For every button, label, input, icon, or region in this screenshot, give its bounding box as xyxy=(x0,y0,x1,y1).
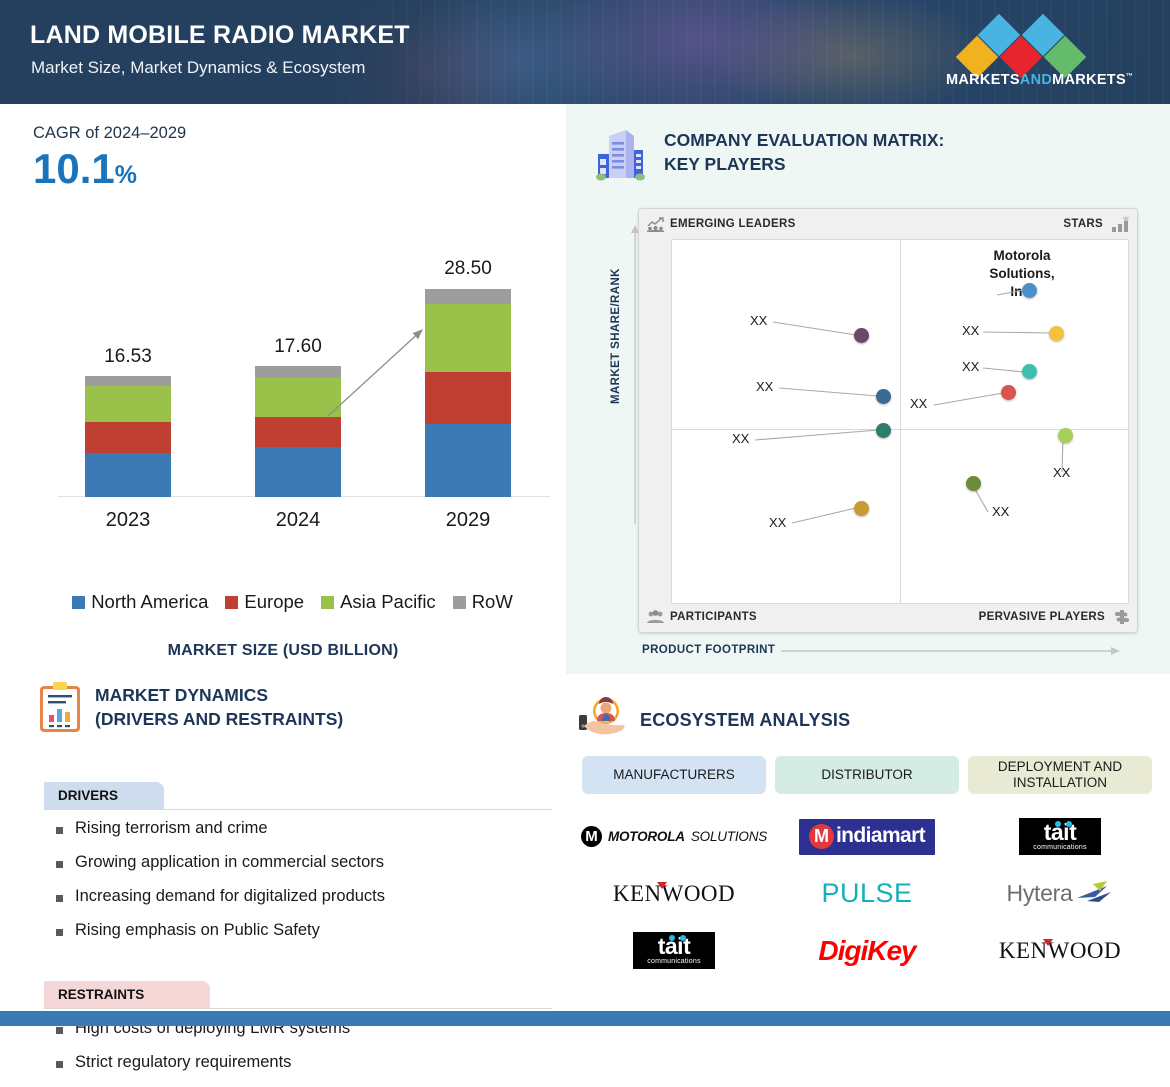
kenwood-wordmark: KENWOOD xyxy=(613,881,735,906)
legend-label-north-america: North America xyxy=(91,591,208,613)
logo-cell: KENWOOD xyxy=(968,924,1152,977)
logo-trademark: ™ xyxy=(1126,73,1133,80)
matrix-bottom-bar: PARTICIPANTS PERVASIVE PLAYERS xyxy=(639,602,1139,632)
legend-label-row: RoW xyxy=(472,591,513,613)
market-dynamics-header: MARKET DYNAMICS (DRIVERS AND RESTRAINTS) xyxy=(38,682,343,734)
matrix-dot-label: XX xyxy=(910,396,927,411)
ecosystem-title: ECOSYSTEM ANALYSIS xyxy=(640,710,850,731)
legend-label-europe: Europe xyxy=(244,591,304,613)
digikey-logo: DigiKey xyxy=(818,935,915,967)
logo-cell: M indiamart xyxy=(775,810,959,863)
matrix-dot-label: XX xyxy=(962,359,979,374)
list-item: Rising terrorism and crime xyxy=(56,819,385,838)
people-group-icon xyxy=(647,610,664,624)
restraints-tag: RESTRAINTS xyxy=(44,981,210,1008)
hytera-wordmark: Hytera xyxy=(1007,880,1073,907)
legend-swatch-asia-pacific xyxy=(321,596,334,609)
bar-seg-northamerica-2024 xyxy=(255,447,341,497)
drivers-tag: DRIVERS xyxy=(44,782,164,809)
ecosystem-column-deployment: DEPLOYMENT AND INSTALLATION tait communi… xyxy=(968,756,1152,981)
bar-seg-europe-2024 xyxy=(255,417,341,447)
ecosystem-header-deployment: DEPLOYMENT AND INSTALLATION xyxy=(968,756,1152,794)
matrix-dot-label: XX xyxy=(732,431,749,446)
kenwood-logo: KENWOOD xyxy=(999,938,1121,964)
puzzle-icon xyxy=(1113,609,1131,625)
driver-text: Rising terrorism and crime xyxy=(75,819,268,838)
tait-dot-icon xyxy=(669,935,675,941)
bullet-square-icon xyxy=(56,827,63,834)
driver-text: Growing application in commercial sector… xyxy=(75,853,384,872)
tait-subtext: communications xyxy=(1033,844,1086,851)
logo-wordmark: MARKETSANDMARKETS™ xyxy=(946,72,1126,88)
logo-cell: tait communications xyxy=(968,810,1152,863)
trend-up-people-icon xyxy=(647,217,664,232)
buildings-icon xyxy=(592,126,648,182)
market-dynamics-title-line1: MARKET DYNAMICS xyxy=(95,684,343,708)
indiamart-wordmark: indiamart xyxy=(836,824,925,848)
tait-dot-icon xyxy=(680,935,686,941)
bar-seg-asia-2024 xyxy=(255,378,341,417)
legend-swatch-europe xyxy=(225,596,238,609)
x-axis-arrow-icon xyxy=(781,644,1121,658)
tait-dot-icon xyxy=(1055,821,1061,827)
clipboard-chart-icon xyxy=(38,682,82,734)
chart-caption: MARKET SIZE (USD BILLION) xyxy=(0,642,566,660)
bar-total-2023: 16.53 xyxy=(58,346,198,368)
matrix-top-bar: EMERGING LEADERS STARS xyxy=(639,209,1139,239)
hytera-wing-icon xyxy=(1073,881,1113,907)
matrix-dot xyxy=(1001,385,1016,400)
ecosystem-header: ECOSYSTEM ANALYSIS xyxy=(578,696,850,744)
matrix-dot-label: XX xyxy=(769,515,786,530)
bullet-square-icon xyxy=(56,929,63,936)
company-evaluation-matrix-panel: COMPANY EVALUATION MATRIX: KEY PLAYERS M… xyxy=(566,104,1170,674)
tait-logo: tait communications xyxy=(633,932,714,970)
bar-group-2023: 16.53 2023 xyxy=(85,376,171,497)
motorola-m-icon: M xyxy=(581,826,602,847)
restraints-divider xyxy=(44,1008,552,1009)
list-item: Rising emphasis on Public Safety xyxy=(56,921,385,940)
logo-cell: KENWOOD xyxy=(582,867,766,920)
list-item: Growing application in commercial sector… xyxy=(56,853,385,872)
bar-seg-asia-2023 xyxy=(85,386,171,422)
ecosystem-cells-deployment: tait communications Hytera xyxy=(968,810,1152,977)
bullet-square-icon xyxy=(56,861,63,868)
motorola-suffix: SOLUTIONS xyxy=(691,829,767,844)
bar-seg-row-2024 xyxy=(255,366,341,378)
bar-seg-row-2023 xyxy=(85,376,171,386)
restraint-text: Strict regulatory requirements xyxy=(75,1053,291,1072)
bar-group-2029: 28.50 2029 xyxy=(425,289,511,497)
matrix-dot-motorola xyxy=(1022,283,1037,298)
tait-subtext: communications xyxy=(647,958,700,965)
marketsandmarkets-logo: MARKETSANDMARKETS™ xyxy=(946,16,1126,90)
logo-cell: M MOTOROLA SOLUTIONS xyxy=(582,810,766,863)
motorola-solutions-logo: M MOTOROLA SOLUTIONS xyxy=(581,826,767,847)
left-panel: CAGR of 2024–2029 10.1% 16.53 2023 17.60 xyxy=(0,104,566,994)
ecosystem-analysis-panel: ECOSYSTEM ANALYSIS MANUFACTURERS M MOTOR… xyxy=(566,674,1170,994)
matrix-dot-label: XX xyxy=(750,313,767,328)
chart-legend: North America Europe Asia Pacific RoW xyxy=(30,591,555,613)
matrix-frame: EMERGING LEADERS STARS MotorolaSolutions… xyxy=(638,208,1138,633)
tait-dot-icon xyxy=(1066,821,1072,827)
matrix-header: COMPANY EVALUATION MATRIX: KEY PLAYERS xyxy=(592,126,944,182)
bullet-square-icon xyxy=(56,1027,63,1034)
matrix-dot xyxy=(1049,326,1064,341)
bar-seg-europe-2029 xyxy=(425,372,511,424)
bullet-square-icon xyxy=(56,895,63,902)
footer-bar xyxy=(0,1011,1170,1026)
page-header: LAND MOBILE RADIO MARKET Market Size, Ma… xyxy=(0,0,1170,104)
tait-wordmark: tait xyxy=(647,936,700,958)
market-dynamics-title-line2: (DRIVERS AND RESTRAINTS) xyxy=(95,708,343,732)
bar-stack-2023 xyxy=(85,376,171,497)
indiamart-badge-icon: M xyxy=(809,824,834,849)
indiamart-logo: M indiamart xyxy=(799,819,935,855)
logo-text-markets2: MARKETS xyxy=(1052,72,1126,88)
hytera-logo: Hytera xyxy=(1007,880,1114,907)
matrix-dot xyxy=(1058,428,1073,443)
page-subtitle: Market Size, Market Dynamics & Ecosystem xyxy=(31,58,365,78)
bar-seg-row-2029 xyxy=(425,289,511,304)
legend-item-asia-pacific: Asia Pacific xyxy=(321,591,436,613)
bar-group-2024: 17.60 2024 xyxy=(255,366,341,497)
quadrant-label-participants: PARTICIPANTS xyxy=(670,611,757,623)
cagr-label: CAGR of 2024–2029 xyxy=(33,124,186,143)
matrix-title-line2: KEY PLAYERS xyxy=(664,153,944,177)
person-hand-icon xyxy=(578,696,628,744)
ecosystem-cells-distributor: M indiamart PULSE DigiKey xyxy=(775,810,959,977)
market-size-bar-chart: 16.53 2023 17.60 2024 28.50 xyxy=(30,184,550,604)
matrix-y-axis-label: MARKET SHARE/RANK xyxy=(610,268,622,404)
matrix-dot xyxy=(966,476,981,491)
ecosystem-column-manufacturers: MANUFACTURERS M MOTOROLA SOLUTIONS KENWO… xyxy=(582,756,766,981)
header-gradient-overlay xyxy=(0,0,470,104)
bar-star-icon xyxy=(1111,215,1131,233)
restraints-list: High costs of deploying LMR systems Stri… xyxy=(56,1019,350,1087)
quadrant-label-emerging-leaders: EMERGING LEADERS xyxy=(670,218,796,230)
bar-total-2029: 28.50 xyxy=(398,258,538,280)
kenwood-wordmark: KENWOOD xyxy=(999,938,1121,963)
matrix-dot-label: XX xyxy=(756,379,773,394)
page-title: LAND MOBILE RADIO MARKET xyxy=(30,21,410,50)
bar-xlabel-2023: 2023 xyxy=(58,509,198,532)
leader-lines xyxy=(672,240,1130,605)
bar-seg-northamerica-2029 xyxy=(425,424,511,497)
matrix-dot-label: XX xyxy=(962,323,979,338)
bar-xlabel-2029: 2029 xyxy=(398,509,538,532)
ecosystem-columns: MANUFACTURERS M MOTOROLA SOLUTIONS KENWO… xyxy=(582,756,1154,981)
logo-cell: PULSE xyxy=(775,867,959,920)
matrix-dot-label: XX xyxy=(1053,465,1070,480)
motorola-mark: M xyxy=(585,829,598,844)
legend-item-europe: Europe xyxy=(225,591,304,613)
tait-logo: tait communications xyxy=(1019,818,1100,856)
quadrant-label-stars: STARS xyxy=(1063,218,1103,230)
list-item: Strict regulatory requirements xyxy=(56,1053,350,1072)
driver-text: Rising emphasis on Public Safety xyxy=(75,921,320,940)
bar-seg-asia-2029 xyxy=(425,304,511,372)
bullet-square-icon xyxy=(56,1061,63,1068)
drivers-divider xyxy=(44,809,552,810)
bar-xlabel-2024: 2024 xyxy=(228,509,368,532)
bar-stack-2024 xyxy=(255,366,341,497)
legend-swatch-row xyxy=(453,596,466,609)
driver-text: Increasing demand for digitalized produc… xyxy=(75,887,385,906)
ecosystem-column-distributor: DISTRIBUTOR M indiamart PULSE DigiKey xyxy=(775,756,959,981)
ecosystem-cells-manufacturers: M MOTOROLA SOLUTIONS KENWOOD xyxy=(582,810,766,977)
ecosystem-header-manufacturers: MANUFACTURERS xyxy=(582,756,766,794)
matrix-dot xyxy=(854,328,869,343)
matrix-dot xyxy=(1022,364,1037,379)
logo-cell: DigiKey xyxy=(775,924,959,977)
indiamart-badge-letter: M xyxy=(814,827,829,845)
bar-seg-europe-2023 xyxy=(85,422,171,453)
ecosystem-header-distributor: DISTRIBUTOR xyxy=(775,756,959,794)
market-dynamics-title: MARKET DYNAMICS (DRIVERS AND RESTRAINTS) xyxy=(95,684,343,731)
logo-text-markets: MARKETS xyxy=(946,72,1020,88)
logo-cell: Hytera xyxy=(968,867,1152,920)
quadrant-label-pervasive-players: PERVASIVE PLAYERS xyxy=(979,611,1105,623)
list-item: Increasing demand for digitalized produc… xyxy=(56,887,385,906)
bar-seg-northamerica-2023 xyxy=(85,453,171,497)
motorola-wordmark: MOTOROLA xyxy=(608,829,685,844)
matrix-dot-label: XX xyxy=(992,504,1009,519)
legend-swatch-north-america xyxy=(72,596,85,609)
pulse-logo: PULSE xyxy=(821,878,912,909)
legend-label-asia-pacific: Asia Pacific xyxy=(340,591,436,613)
logo-text-and: AND xyxy=(1020,72,1052,88)
kenwood-triangle-icon xyxy=(1043,939,1053,946)
matrix-dot xyxy=(876,423,891,438)
matrix-x-axis-label: PRODUCT FOOTPRINT xyxy=(642,644,775,656)
legend-item-row: RoW xyxy=(453,591,513,613)
bar-stack-2029 xyxy=(425,289,511,497)
matrix-dot xyxy=(854,501,869,516)
kenwood-triangle-icon xyxy=(657,882,667,889)
matrix-dot xyxy=(876,389,891,404)
matrix-plot-area: MotorolaSolutions,Inc. XX xyxy=(671,239,1129,604)
legend-item-north-america: North America xyxy=(72,591,208,613)
kenwood-logo: KENWOOD xyxy=(613,881,735,907)
matrix-title-line1: COMPANY EVALUATION MATRIX: xyxy=(664,129,944,153)
tait-wordmark: tait xyxy=(1033,822,1086,844)
drivers-list: Rising terrorism and crime Growing appli… xyxy=(56,819,385,955)
matrix-title: COMPANY EVALUATION MATRIX: KEY PLAYERS xyxy=(664,126,944,176)
logo-cell: tait communications xyxy=(582,924,766,977)
bar-total-2024: 17.60 xyxy=(228,336,368,358)
